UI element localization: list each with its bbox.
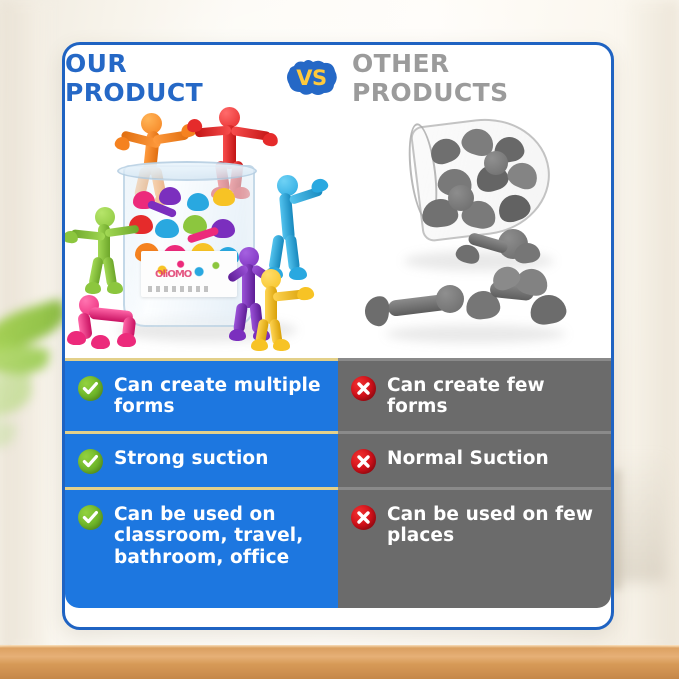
ours-cell[interactable]: Can be used on classroom, travel, bathro…	[65, 490, 338, 608]
theirs-cell[interactable]: Normal Suction	[338, 434, 611, 487]
cross-circle-icon	[351, 505, 376, 530]
comparison-table: Can create multiple forms Can create few…	[65, 358, 611, 608]
check-circle-icon	[78, 449, 103, 474]
theirs-text: Can create few forms	[387, 374, 599, 418]
check-circle-icon	[78, 376, 103, 401]
ours-text: Strong suction	[114, 447, 268, 469]
theirs-text: Normal Suction	[387, 447, 549, 469]
background-table-grain	[0, 645, 679, 679]
product-photo-strip: OliOMO	[65, 103, 611, 358]
vs-label: VS	[296, 68, 326, 89]
ours-cell[interactable]: Strong suction	[65, 434, 338, 487]
other-products-photo	[338, 103, 611, 358]
theirs-text: Can be used on few places	[387, 503, 599, 547]
table-row: Can be used on classroom, travel, bathro…	[65, 490, 611, 608]
ours-cell[interactable]: Can create multiple forms	[65, 361, 338, 431]
comparison-card: OUR PRODUCT VS OTHER PRODUCTS	[62, 42, 614, 630]
ours-text: Can create multiple forms	[114, 374, 326, 418]
bucket-brand-text: OliOMO	[155, 269, 217, 280]
table-row: Strong suction Normal Suction	[65, 434, 611, 487]
plant-leaf	[0, 373, 34, 420]
toy-figure-pink	[65, 289, 155, 351]
cross-circle-icon	[351, 376, 376, 401]
ours-text: Can be used on classroom, travel, bathro…	[114, 503, 326, 568]
plant-leaf	[0, 412, 17, 454]
gray-figure-cluster	[456, 265, 586, 337]
theirs-cell[interactable]: Can create few forms	[338, 361, 611, 431]
vs-badge: VS	[285, 59, 338, 97]
our-product-photo: OliOMO	[65, 103, 338, 358]
table-row: Can create multiple forms Can create few…	[65, 361, 611, 431]
theirs-cell[interactable]: Can be used on few places	[338, 490, 611, 608]
screenshot-root: OUR PRODUCT VS OTHER PRODUCTS	[0, 0, 679, 679]
toy-figure-yellow	[243, 269, 317, 355]
bucket-lid	[117, 161, 257, 181]
toy-figure-green	[67, 207, 149, 299]
other-products-title: OTHER PRODUCTS	[352, 49, 611, 107]
check-circle-icon	[78, 505, 103, 530]
card-header: OUR PRODUCT VS OTHER PRODUCTS	[65, 56, 611, 100]
background-table-edge	[0, 645, 679, 648]
our-product-title: OUR PRODUCT	[65, 49, 271, 107]
cross-circle-icon	[351, 449, 376, 474]
